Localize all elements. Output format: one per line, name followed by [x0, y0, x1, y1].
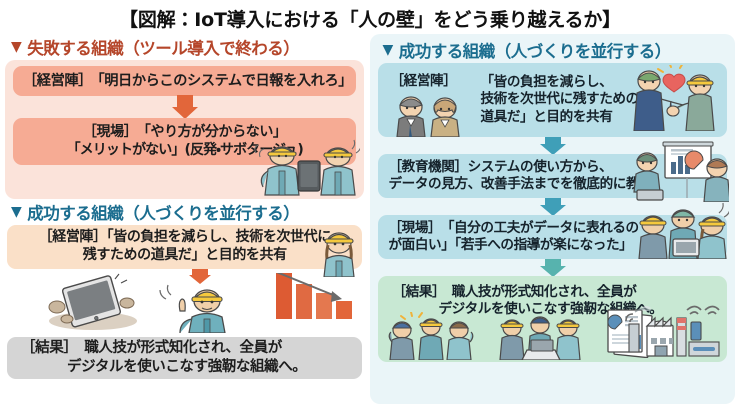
page-title: 【図解：IoT導入における「人の壁」をどう乗り越えるか】: [119, 5, 621, 32]
left-column: ▼ 失敗する組織（ツール導入で終わる） ［経営陣］ 「明日からこのシステムで日報…: [5, 34, 364, 404]
fail-exec-quote: 「明日からこのシステムで日報を入れろ」: [90, 72, 346, 90]
instructor-with-presentation-screen-illustration: [633, 140, 729, 202]
down-arrow-blue-icon: [540, 198, 566, 216]
right-edu-box: ［教育機関］システムの使い方から、 データの見方、改善手法までを徹底的に教育: [378, 154, 727, 198]
broken-tablet-on-ground-illustration: [45, 273, 141, 331]
triangle-down-icon: ▼: [382, 43, 392, 57]
right-success-heading-label: 成功する組織（人づくりを並行する）: [399, 38, 671, 62]
declining-bar-chart-illustration: [270, 273, 358, 325]
fail-exec-box: ［経営陣］ 「明日からこのシステムで日報を入れろ」: [13, 66, 356, 96]
left-success-section-header: ▼ 成功する組織（人づくりを並行する）: [5, 199, 364, 225]
left-success-exec-line2: 残すための道具だ」と目的を共有: [17, 247, 352, 265]
handshake-with-heart-illustration: [627, 65, 721, 131]
fail-section-heading-label: 失敗する組織（ツール導入で終わる）: [27, 35, 299, 59]
fail-panel: ［経営陣］ 「明日からこのシステムで日報を入れろ」 ［現場］ 「やり方が分からな…: [5, 60, 364, 199]
page-title-bar: 【図解：IoT導入における「人の壁」をどう乗り越えるか】: [0, 0, 740, 34]
female-worker-hardhat-illustration: [316, 221, 362, 277]
left-success-heading-label: 成功する組織（人づくりを並行する）: [27, 200, 299, 224]
left-success-exec-box: ［経営陣］「皆の負担を減らし、技術を次世代に 残すための道具だ」と目的を共有: [7, 225, 362, 269]
left-success-panel: ［経営陣］「皆の負担を減らし、技術を次世代に 残すための道具だ」と目的を共有: [5, 225, 364, 391]
triangle-down-icon: ▼: [11, 40, 21, 54]
three-workers-looking-at-tablet-illustration: [633, 201, 729, 259]
left-result-line2: デジタルを使いこなす強靭な組織へ。: [21, 358, 348, 377]
two-angry-workers-with-tablet-illustration: [248, 135, 360, 197]
down-arrow-orange-icon: [172, 95, 198, 119]
right-result-box: ［結果］ 職人技が形式知化され、全員が デジタルを使いこなす強靭な組織へ。: [378, 276, 727, 362]
right-success-section-header: ▼ 成功する組織（人づくりを並行する）: [376, 37, 729, 63]
triangle-down-icon: ▼: [11, 205, 21, 219]
workers-with-laptop-illustration: [494, 312, 586, 360]
right-exec-box: ［経営陣］ 「皆の負担を減らし、 技術を次世代に残すための 道具だ」と目的を共有: [378, 63, 727, 137]
cheering-workers-group-illustration: [386, 312, 478, 360]
worker-pointing-up-illustration: [155, 281, 247, 333]
fail-exec-label: ［経営陣］: [23, 72, 90, 90]
smart-factory-with-wifi-illustration: [617, 302, 721, 360]
left-success-exec-line1: ［経営陣］「皆の負担を減らし、技術を次世代に: [17, 229, 352, 247]
right-result-line1: ［結果］ 職人技が形式知化され、全員が: [392, 284, 717, 301]
left-result-box: ［結果］ 職人技が形式知化され、全員が デジタルを使いこなす強靭な組織へ。: [7, 337, 362, 379]
fail-arrow-wrap: [13, 96, 356, 118]
fail-section-header: ▼ 失敗する組織（ツール導入で終わる）: [5, 34, 364, 60]
left-success-scene: [7, 271, 362, 331]
right-arrow-3-wrap: [376, 259, 729, 276]
columns-container: ▼ 失敗する組織（ツール導入で終わる） ［経営陣］ 「明日からこのシステムで日報…: [0, 34, 740, 404]
down-arrow-blue-icon: [540, 137, 566, 155]
left-result-line1: ［結果］ 職人技が形式知化され、全員が: [21, 339, 348, 358]
two-executives-avatars-illustration: [390, 93, 468, 137]
down-arrow-teal-icon: [540, 259, 566, 277]
right-exec-label: ［経営陣］: [390, 73, 456, 90]
right-genba-box: ［現場］ 「自分の工夫がデータに表れるの が面白い」「若手への指導が楽になった」: [378, 215, 727, 259]
right-column: ▼ 成功する組織（人づくりを並行する） ［経営陣］ 「皆の負担を減らし、 技術を…: [370, 34, 735, 404]
